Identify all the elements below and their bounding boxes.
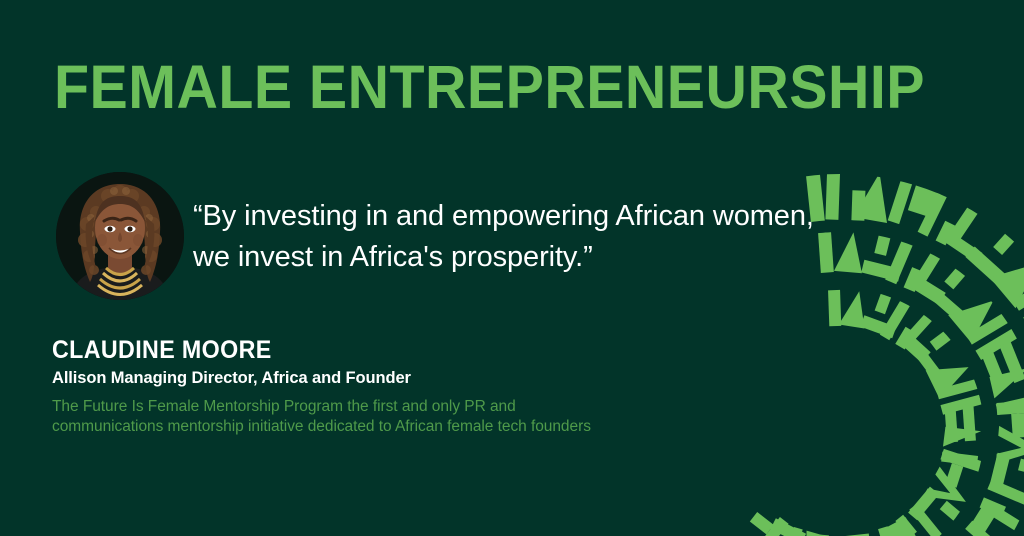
avatar: [56, 172, 184, 300]
pattern-ring-inner: [739, 289, 982, 536]
page-title: FEMALE ENTREPRENEURSHIP: [54, 56, 925, 118]
person-name: CLAUDINE MOORE: [52, 337, 272, 363]
avatar-portrait-illustration: [56, 172, 184, 300]
person-role: Allison Managing Director, Africa and Fo…: [52, 368, 411, 389]
quote-text: “By investing in and empowering African …: [193, 196, 913, 278]
quote-card: FEMALE ENTREPRENEURSHIP: [0, 0, 1024, 536]
program-description: The Future Is Female Mentorship Program …: [52, 397, 752, 437]
